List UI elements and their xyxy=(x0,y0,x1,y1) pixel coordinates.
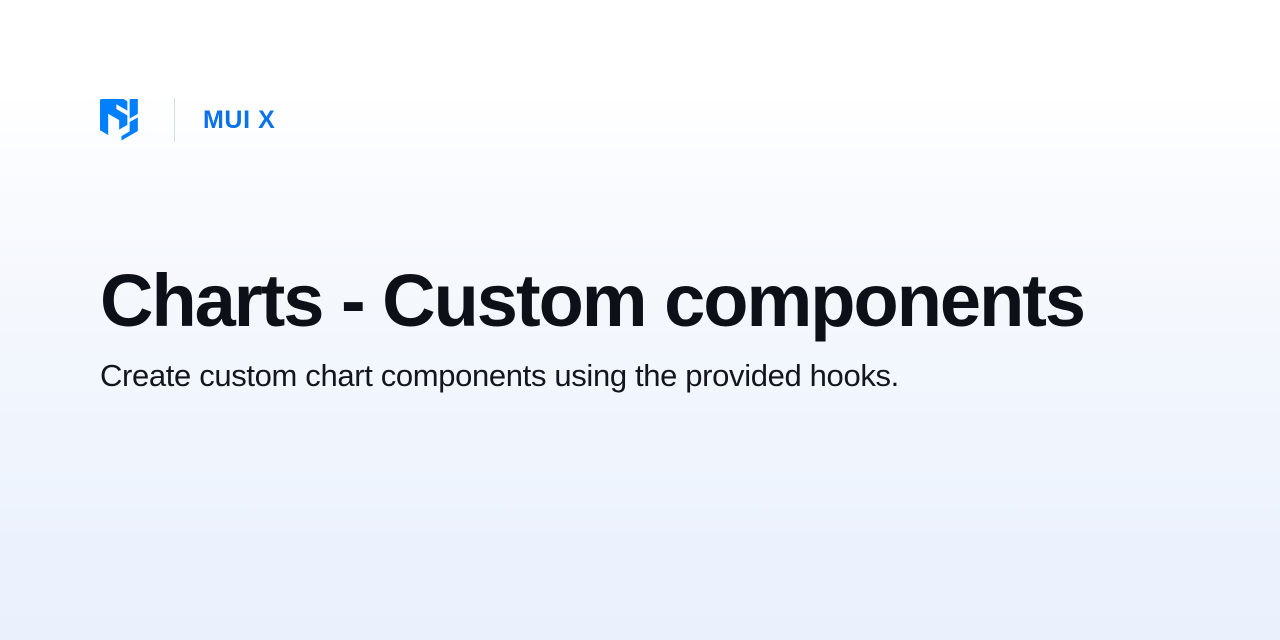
brand-header: MUI X xyxy=(100,96,275,144)
brand-wordmark: MUI X xyxy=(203,108,275,133)
brand-divider xyxy=(174,98,175,142)
page-title: Charts - Custom components xyxy=(100,262,1190,340)
hero-section: Charts - Custom components Create custom… xyxy=(100,262,1190,396)
mui-logo-icon xyxy=(100,99,146,141)
og-card: MUI X Charts - Custom components Create … xyxy=(0,0,1280,640)
page-subtitle: Create custom chart components using the… xyxy=(100,357,1190,396)
